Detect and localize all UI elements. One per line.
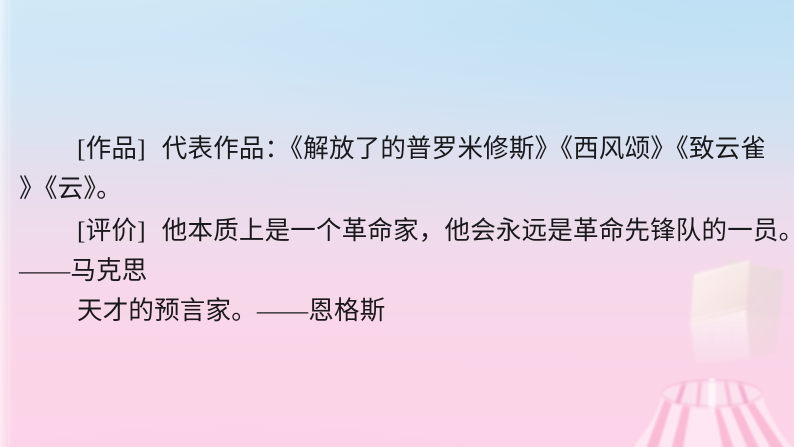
text-line-works-2: 》《云》。 bbox=[19, 169, 122, 209]
attribution-marx: ——马克思 bbox=[19, 251, 148, 291]
text-line-works-1: [作品]代表作品：《解放了的普罗米修斯》《西风颂》《致云雀 bbox=[77, 129, 766, 169]
评价-body-text: 他本质上是一个革命家，他会永远是革命先锋队的一员。 bbox=[162, 216, 794, 245]
left-edge-highlight-2 bbox=[8, 0, 13, 447]
left-edge-highlight bbox=[0, 0, 10, 447]
slide-canvas: [作品]代表作品：《解放了的普罗米修斯》《西风颂》《致云雀 》《云》。 [评价]… bbox=[0, 0, 794, 447]
works-body-text: 代表作品：《解放了的普罗米修斯》《西风颂》《致云雀 bbox=[162, 134, 766, 163]
striped-fan-icon bbox=[612, 378, 794, 447]
slide-text-block: [作品]代表作品：《解放了的普罗米修斯》《西风颂》《致云雀 》《云》。 [评价]… bbox=[0, 0, 794, 447]
text-line-评价-1: [评价]他本质上是一个革命家，他会永远是革命先锋队的一员。 bbox=[77, 211, 794, 251]
open-book-icon bbox=[688, 246, 794, 364]
label-评价: [评价] bbox=[77, 216, 146, 245]
label-works: [作品] bbox=[77, 134, 146, 163]
attribution-engels: 天才的预言家。——恩格斯 bbox=[77, 291, 385, 331]
